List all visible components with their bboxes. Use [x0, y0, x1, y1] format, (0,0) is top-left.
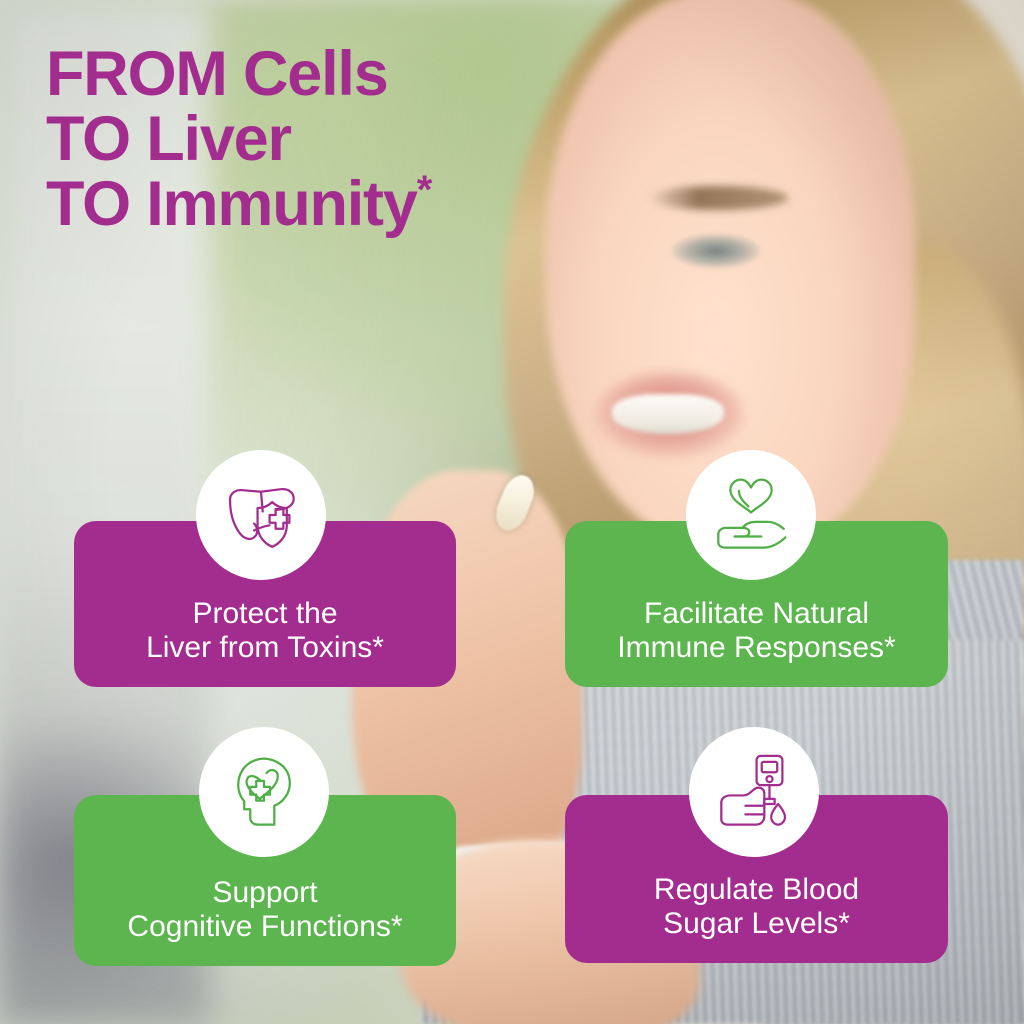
headline-line-3-text: TO Immunity: [46, 169, 417, 239]
benefit-card-immune-label: Facilitate Natural Immune Responses*: [605, 597, 907, 665]
benefit-card-cognitive-label: Support Cognitive Functions*: [115, 876, 414, 944]
infographic-canvas: FROM Cells TO Liver TO Immunity* Protect…: [0, 0, 1024, 1024]
badge-cognitive: [199, 727, 329, 857]
badge-bloodsugar: [689, 727, 819, 857]
head-heart-cross-icon: [221, 749, 307, 835]
glucometer-hand-drop-icon: [711, 749, 797, 835]
heart-in-hand-icon: [708, 472, 794, 558]
liver-shield-icon: [218, 472, 304, 558]
benefit-card-bloodsugar-label: Regulate Blood Sugar Levels*: [642, 873, 871, 941]
headline-line-3: TO Immunity*: [46, 172, 606, 237]
badge-liver: [196, 450, 326, 580]
benefit-card-liver-label: Protect the Liver from Toxins*: [134, 597, 396, 665]
badge-immune: [686, 450, 816, 580]
headline-asterisk: *: [417, 168, 431, 212]
headline-line-1: FROM Cells: [46, 42, 606, 107]
page-title: FROM Cells TO Liver TO Immunity*: [46, 42, 606, 237]
headline-line-2: TO Liver: [46, 107, 606, 172]
